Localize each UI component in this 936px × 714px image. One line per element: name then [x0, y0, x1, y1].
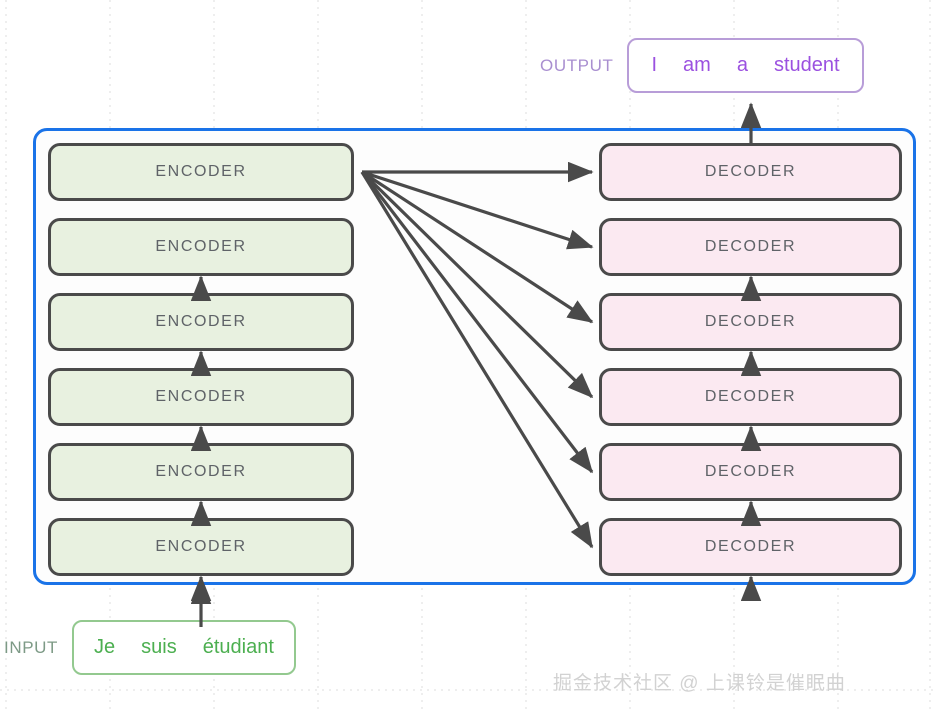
- arrow-encoder-to-decoder-2: [362, 172, 592, 247]
- arrow-encoder-to-decoder-4: [362, 172, 592, 397]
- arrow-encoder-to-decoder-6: [362, 172, 592, 547]
- connector-layer: [0, 0, 936, 714]
- arrow-encoder-to-decoder-5: [362, 172, 592, 472]
- arrow-encoder-to-decoder-3: [362, 172, 592, 322]
